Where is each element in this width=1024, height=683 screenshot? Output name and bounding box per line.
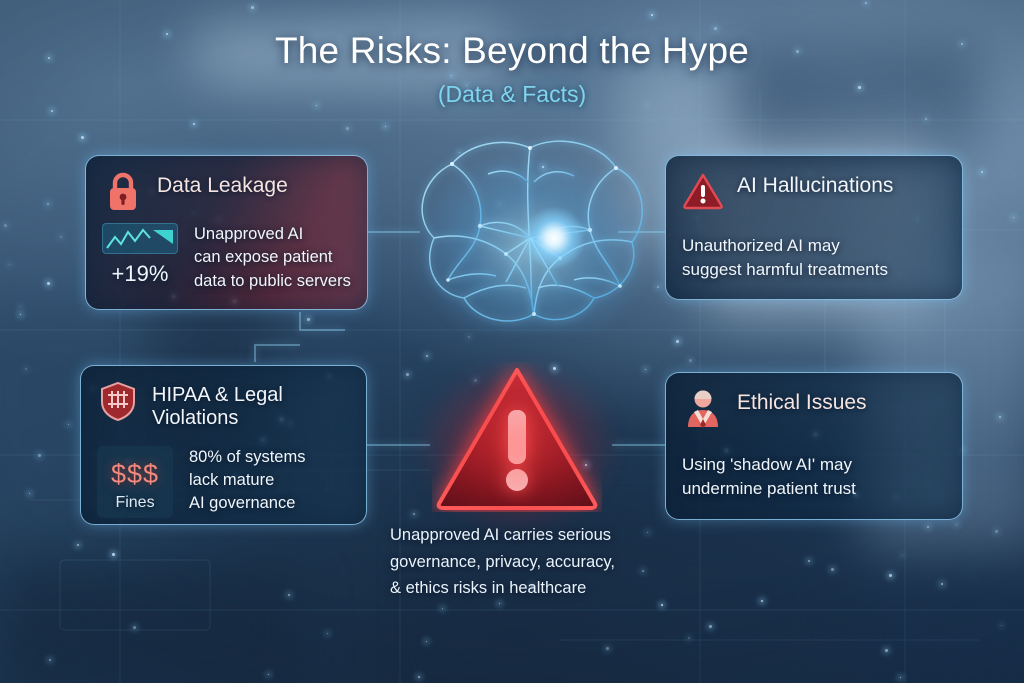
card-description: Using 'shadow AI' may undermine patient … <box>682 453 946 501</box>
center-warning-graphic <box>432 362 602 512</box>
infographic-stage: e20]]1F]=2D=73}A|]B6E8[b81[74}D>D792f[2{… <box>0 0 1024 683</box>
card-body: +19% Unapproved AI can expose patient da… <box>102 223 351 293</box>
risk-card-ai-hallucinations[interactable]: AI Hallucinations Unauthorized AI may su… <box>665 155 963 300</box>
warning-triangle-icon <box>682 170 724 212</box>
stat-label: Fines <box>99 494 171 512</box>
card-description: 80% of systems lack mature AI governance <box>189 446 305 516</box>
caption-line: governance, privacy, accuracy, <box>390 549 690 576</box>
card-header: Data Leakage <box>102 170 351 212</box>
card-header: AI Hallucinations <box>682 170 946 212</box>
caption-line: & ethics risks in healthcare <box>390 575 690 602</box>
lock-icon <box>102 170 144 212</box>
card-title: Data Leakage <box>157 170 288 198</box>
card-title: HIPAA & Legal Violations <box>152 380 350 430</box>
shield-icon <box>97 380 139 422</box>
card-header: Ethical Issues <box>682 387 946 429</box>
stat-value: $$$ <box>99 459 171 490</box>
caption-line: Unapproved AI carries serious <box>390 522 690 549</box>
doctor-person-icon <box>682 387 724 429</box>
card-description: Unapproved AI can expose patient data to… <box>194 223 351 293</box>
card-header: HIPAA & Legal Violations <box>97 380 350 430</box>
stat-chip: $$$ Fines <box>97 446 173 518</box>
card-description: Unauthorized AI may suggest harmful trea… <box>682 234 946 282</box>
page-subtitle: (Data & Facts) <box>0 81 1024 108</box>
stat-value: +19% <box>102 261 178 287</box>
risk-card-ethical-issues[interactable]: Ethical Issues Using 'shadow AI' may und… <box>665 372 963 520</box>
risk-card-data-leakage[interactable]: Data Leakage +19% Unapproved AI can expo… <box>85 155 368 310</box>
summary-caption: Unapproved AI carries serious governance… <box>390 522 690 602</box>
trend-chart-icon <box>102 223 178 254</box>
card-title: Ethical Issues <box>737 387 867 415</box>
card-body: $$$ Fines 80% of systems lack mature AI … <box>97 446 350 518</box>
neural-brain-graphic <box>388 120 668 350</box>
title-block: The Risks: Beyond the Hype (Data & Facts… <box>0 30 1024 108</box>
card-title: AI Hallucinations <box>737 170 893 198</box>
page-title: The Risks: Beyond the Hype <box>0 30 1024 72</box>
risk-card-hipaa-legal-violations[interactable]: HIPAA & Legal Violations $$$ Fines 80% o… <box>80 365 367 525</box>
stat-chip: +19% <box>102 223 178 287</box>
